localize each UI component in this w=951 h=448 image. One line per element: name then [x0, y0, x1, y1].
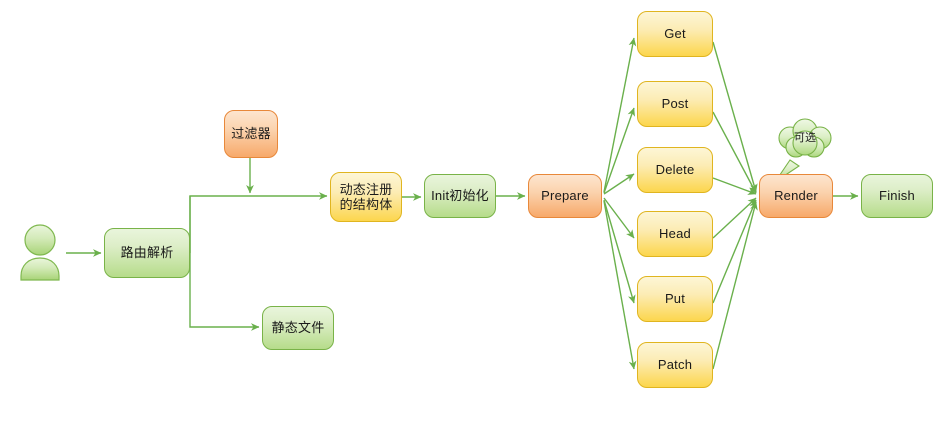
- edge-prepare-post: [604, 108, 634, 193]
- edge-delete-render: [713, 178, 756, 194]
- edge-prepare-get: [604, 38, 634, 192]
- node-static-files[interactable]: 静态文件: [262, 306, 334, 350]
- edge-prepare-head: [604, 198, 634, 238]
- node-label: 路由解析: [117, 245, 178, 260]
- edge-route-static: [190, 253, 259, 327]
- actor-user-icon: [14, 224, 66, 282]
- actor-head: [25, 225, 55, 255]
- node-prepare[interactable]: Prepare: [528, 174, 602, 218]
- node-method-get[interactable]: Get: [637, 11, 713, 57]
- edge-prepare-patch: [604, 201, 634, 369]
- node-init[interactable]: Init初始化: [424, 174, 496, 218]
- node-label: Delete: [652, 162, 699, 177]
- edge-prepare-delete: [604, 174, 634, 194]
- node-route-parse[interactable]: 路由解析: [104, 228, 190, 278]
- edge-route-struct: [190, 196, 327, 253]
- node-label: Post: [658, 96, 693, 111]
- node-dynamic-struct[interactable]: 动态注册 的结构体: [330, 172, 402, 222]
- node-method-post[interactable]: Post: [637, 81, 713, 127]
- node-label: Patch: [654, 357, 696, 372]
- node-finish[interactable]: Finish: [861, 174, 933, 218]
- node-label: Get: [660, 26, 690, 41]
- node-label: 静态文件: [268, 320, 329, 335]
- node-label: 过滤器: [227, 126, 275, 141]
- node-label: Init初始化: [427, 188, 493, 203]
- node-method-head[interactable]: Head: [637, 211, 713, 257]
- node-label: Render: [770, 188, 822, 203]
- actor-body: [21, 258, 59, 280]
- node-label: 动态注册 的结构体: [336, 182, 397, 213]
- flowchart-canvas: 可选 路由解析 过滤器 静态文件 动态注册 的结构体 Init初始化 Prepa…: [0, 0, 951, 448]
- optional-cloud-callout: 可选: [774, 118, 836, 166]
- edge-put-render: [713, 200, 756, 303]
- node-label: Finish: [875, 188, 919, 203]
- node-label: Head: [655, 226, 695, 241]
- edge-patch-render: [713, 202, 756, 369]
- node-label: Prepare: [537, 188, 593, 203]
- node-label: Put: [661, 291, 689, 306]
- edge-post-render: [713, 112, 756, 193]
- node-method-patch[interactable]: Patch: [637, 342, 713, 388]
- node-render[interactable]: Render: [759, 174, 833, 218]
- node-filter[interactable]: 过滤器: [224, 110, 278, 158]
- edge-prepare-put: [604, 200, 634, 303]
- node-method-put[interactable]: Put: [637, 276, 713, 322]
- edge-layer: [0, 0, 951, 448]
- node-method-delete[interactable]: Delete: [637, 147, 713, 193]
- edge-head-render: [713, 198, 756, 238]
- edge-get-render: [713, 42, 756, 192]
